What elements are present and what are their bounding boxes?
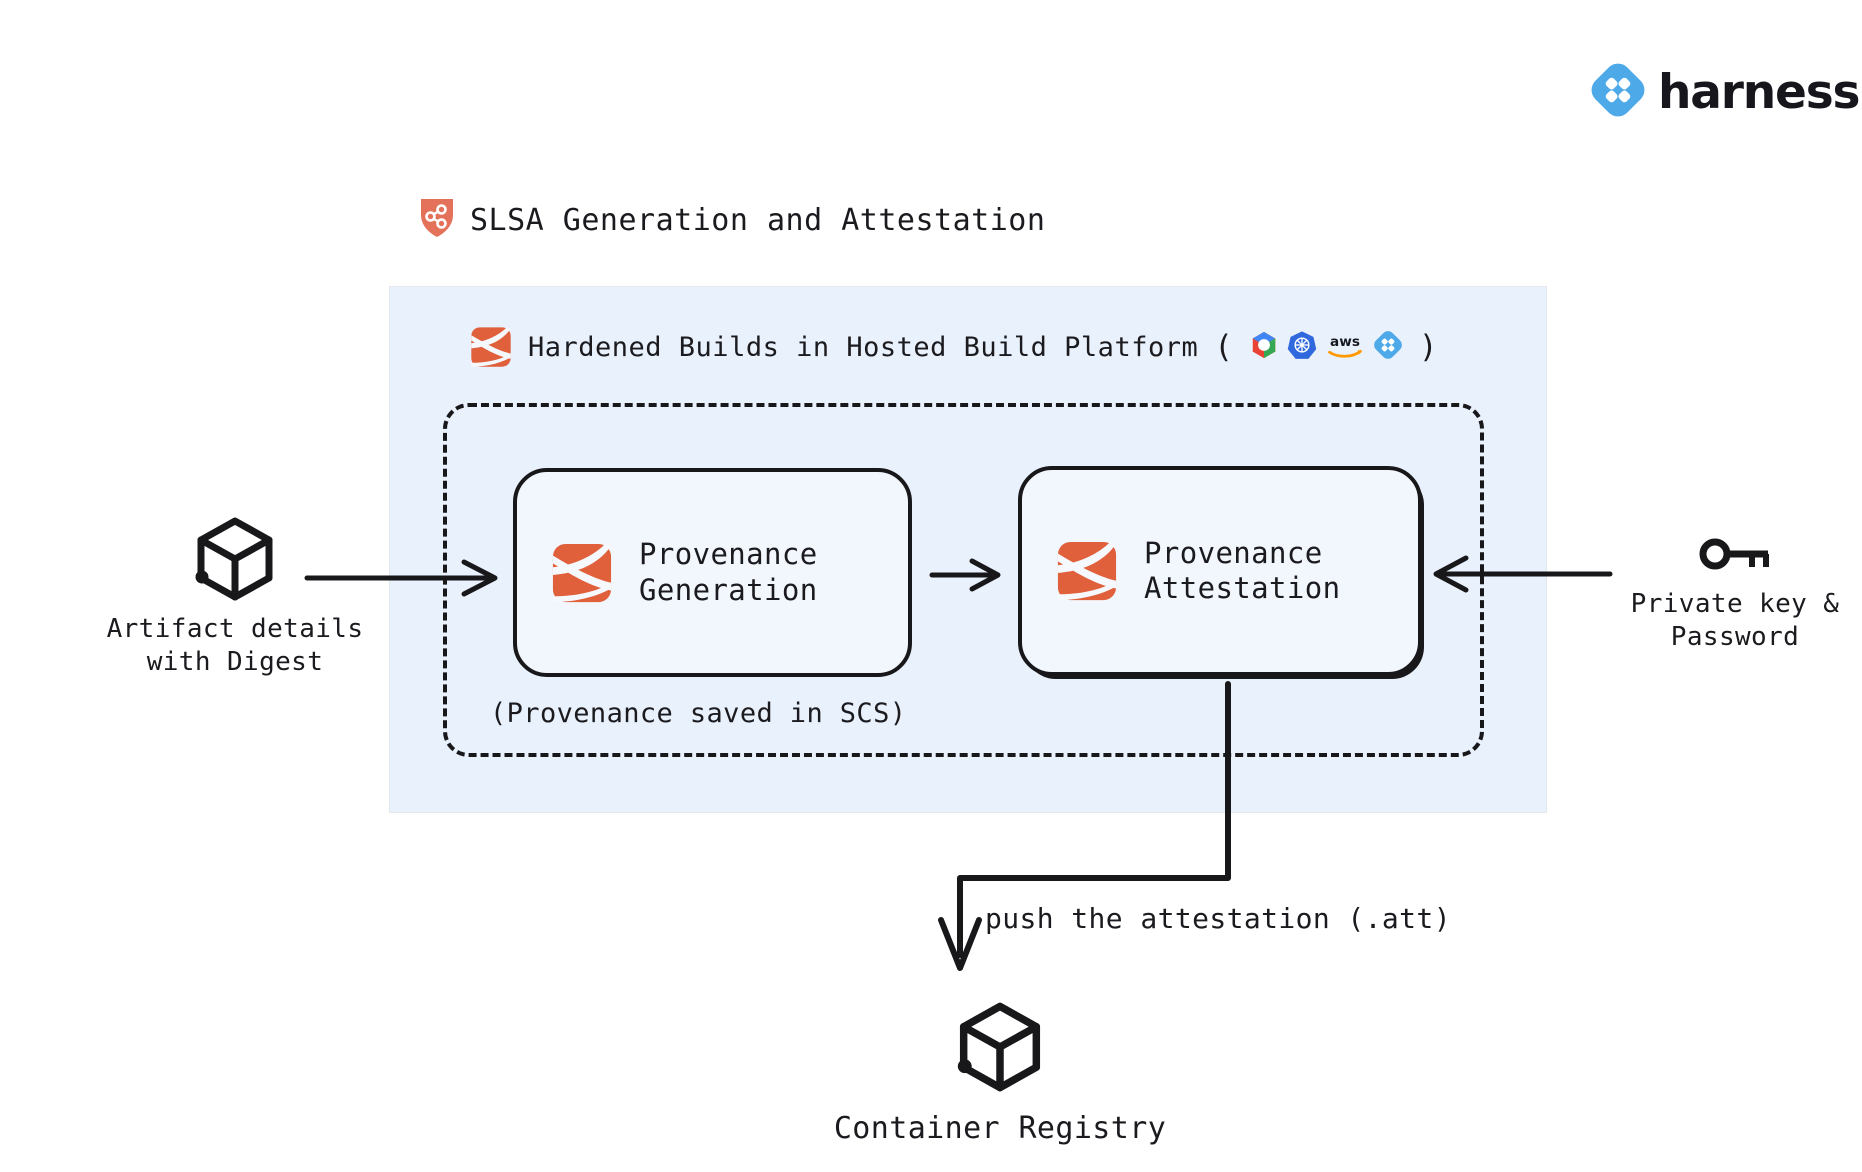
slsa-title-text: SLSA Generation and Attestation [470,203,1045,238]
harness-logo: harness [1590,62,1859,122]
provenance-generation-box[interactable]: Provenance Generation [513,468,912,677]
platform-provider-icons: aws [1249,330,1403,364]
slsa-title: SLSA Generation and Attestation [420,198,1045,242]
scs-note: (Provenance saved in SCS) [490,698,906,729]
svg-text:aws: aws [1330,334,1360,350]
gcp-icon [1249,330,1279,364]
key-icon [1615,538,1855,578]
harness-wordmark: harness [1658,69,1859,116]
key-node: Private key & Password [1615,538,1855,654]
platform-header: Hardened Builds in Hosted Build Platform… [470,326,1438,368]
cube-icon [800,1000,1200,1094]
aws-icon: aws [1325,330,1365,364]
provenance-generation-label: Provenance Generation [639,537,818,608]
harness-ribbon-icon [470,326,512,368]
cube-icon [90,515,380,603]
provenance-attestation-box[interactable]: Provenance Attestation [1018,466,1422,676]
container-registry-node: Container Registry [800,1000,1200,1148]
key-caption: Private key & Password [1615,588,1855,654]
provenance-attestation-label: Provenance Attestation [1144,536,1340,607]
artifact-caption: Artifact details with Digest [90,613,380,679]
paren-open: ( [1214,332,1233,363]
harness-diamond-icon [1590,62,1646,122]
platform-header-text: Hardened Builds in Hosted Build Platform [528,332,1198,363]
kubernetes-icon [1287,330,1317,364]
harness-ribbon-icon [551,542,613,604]
harness-icon [1373,330,1403,364]
container-registry-caption: Container Registry [800,1110,1200,1148]
artifact-node: Artifact details with Digest [90,515,380,679]
harness-ribbon-icon [1056,540,1118,602]
slsa-shield-icon [420,198,454,242]
paren-close: ) [1419,332,1438,363]
push-attestation-label: push the attestation (.att) [985,902,1451,935]
